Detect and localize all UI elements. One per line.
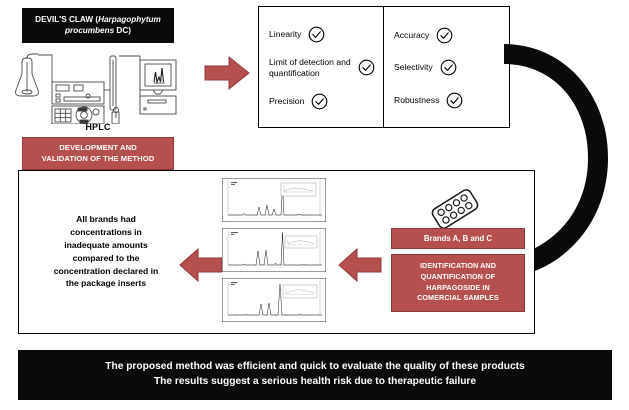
- validation-item-accuracy: Accuracy: [394, 27, 501, 44]
- chromatogram-trace: [222, 178, 326, 222]
- brands-label-box: Brands A, B and C: [391, 228, 525, 249]
- validation-item-selectivity: Selectivity: [394, 59, 501, 76]
- validation-label-accuracy: Accuracy: [394, 30, 429, 41]
- validation-label-linearity: Linearity: [269, 29, 301, 40]
- validation-item-precision: Precision: [269, 93, 375, 110]
- pill-blister-icon: [424, 186, 486, 232]
- validation-label-lod-loq: Limit of detection and quantification: [269, 57, 351, 79]
- species-title-box: DEVIL'S CLAW (Harpagophytum procumbens D…: [22, 8, 174, 43]
- conclusion-banner: The proposed method was efficient and qu…: [18, 350, 612, 400]
- check-circle-icon: [311, 93, 328, 110]
- identification-line2: QUANTIFICATION OF: [421, 272, 496, 281]
- check-circle-icon: [440, 59, 457, 76]
- validation-label-selectivity: Selectivity: [394, 62, 433, 73]
- validation-column-left: Linearity Limit of detection and quantif…: [259, 7, 384, 127]
- result-summary-text: All brands had concentrations in inadequ…: [40, 213, 172, 290]
- identification-line1: IDENTIFICATION AND: [420, 261, 496, 270]
- species-title-prefix: DEVIL'S CLAW (: [35, 15, 98, 24]
- identification-line3: HARPAGOSIDE IN: [426, 283, 490, 292]
- red-arrow-right-icon: [203, 55, 251, 91]
- validation-item-linearity: Linearity: [269, 26, 375, 43]
- result-line3: inadequate amounts: [64, 240, 148, 250]
- development-validation-box: DEVELOPMENT AND VALIDATION OF THE METHOD: [22, 137, 174, 170]
- chromatogram-trace: [222, 228, 326, 272]
- development-validation-line2: VALIDATION OF THE METHOD: [42, 154, 155, 163]
- result-line2: concentrations in: [70, 227, 142, 237]
- species-authority: DC): [114, 26, 131, 35]
- validation-label-precision: Precision: [269, 96, 304, 107]
- chromatogram-trace: [222, 278, 326, 322]
- identification-quantification-box: IDENTIFICATION AND QUANTIFICATION OF HAR…: [391, 254, 525, 312]
- validation-column-right: Accuracy Selectivity Robustness: [384, 7, 509, 127]
- check-circle-icon: [446, 92, 463, 109]
- conclusion-line1: The proposed method was efficient and qu…: [105, 361, 524, 372]
- hplc-system-icon: [8, 52, 188, 124]
- result-line6: the package inserts: [66, 278, 146, 288]
- check-circle-icon: [436, 27, 453, 44]
- hplc-label: HPLC: [22, 122, 174, 132]
- red-arrow-left-icon: [337, 247, 383, 283]
- conclusion-line2: The results suggest a serious health ris…: [154, 376, 476, 387]
- validation-item-lod-loq: Limit of detection and quantification: [269, 57, 375, 79]
- check-circle-icon: [358, 59, 375, 76]
- result-line4: compared to the: [73, 253, 140, 263]
- development-validation-line1: DEVELOPMENT AND: [59, 143, 137, 152]
- identification-line4: COMERCIAL SAMPLES: [417, 293, 499, 302]
- result-line1: All brands had: [76, 214, 136, 224]
- species-epithet: procumbens: [65, 26, 114, 35]
- red-arrow-left-icon: [178, 247, 224, 283]
- result-line5: concentration declared in: [54, 266, 159, 276]
- check-circle-icon: [308, 26, 325, 43]
- validation-item-robustness: Robustness: [394, 92, 501, 109]
- validation-label-robustness: Robustness: [394, 95, 439, 106]
- species-genus: Harpagophytum: [98, 15, 161, 24]
- validation-parameters-panel: Linearity Limit of detection and quantif…: [258, 6, 510, 128]
